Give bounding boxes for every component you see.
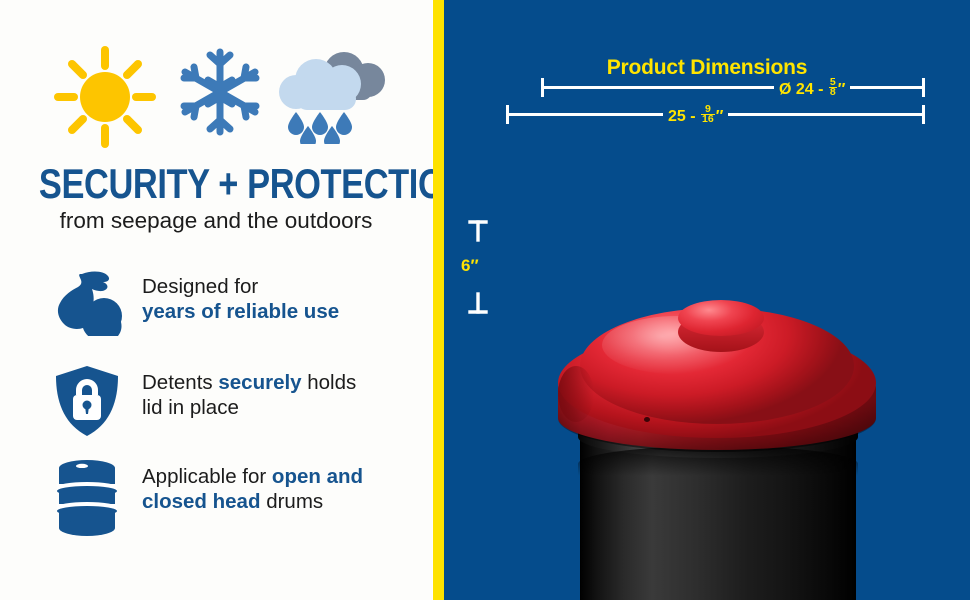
diameter-label-suffix: ″: [838, 81, 846, 98]
page-subtitle: from seepage and the outdoors: [0, 208, 432, 234]
feature-bold: securely: [218, 371, 301, 394]
yellow-divider: [433, 0, 444, 600]
snowflake-icon: [172, 42, 268, 147]
left-panel: SECURITY + PROTECTION from seepage and t…: [0, 0, 432, 600]
list-item: Applicable for open and closed head drum…: [52, 456, 422, 530]
diameter-fraction: 58: [829, 78, 837, 97]
feature-line-2-tail: drums: [261, 490, 324, 513]
weather-icon-row: [44, 42, 404, 162]
feature-line-2-bold: closed head: [142, 490, 261, 513]
sun-icon: [50, 42, 160, 157]
list-item: Detents securely holds lid in place: [52, 362, 422, 436]
diameter-label-prefix: Ø 24 -: [779, 81, 828, 98]
feature-list: Designed for years of reliable use: [52, 268, 422, 550]
right-panel: Product Dimensions Ø 24 - 58″: [444, 0, 970, 600]
diameter-cap-left: [541, 78, 544, 97]
list-item-text: Applicable for open and closed head drum…: [142, 456, 422, 514]
feature-line-2: lid in place: [142, 396, 239, 419]
rain-cloud-icon: [272, 42, 394, 149]
diameter-dimension-line: [541, 86, 925, 89]
list-item-text: Designed for years of reliable use: [142, 268, 422, 324]
width-label-suffix: ″: [716, 108, 724, 125]
width-fraction: 916: [701, 105, 715, 124]
width-label-prefix: 25 -: [668, 108, 700, 125]
lid-edge-shadow: [558, 366, 594, 422]
product-dimensions-title: Product Dimensions: [444, 56, 970, 80]
list-item-text: Detents securely holds lid in place: [142, 362, 422, 420]
diameter-cap-right: [922, 78, 925, 97]
diameter-dimension-label: Ø 24 - 58″: [774, 78, 850, 99]
feature-lead: Applicable for: [142, 465, 272, 488]
headline-block: SECURITY + PROTECTION from seepage and t…: [0, 162, 432, 234]
feature-line-2-bold: years of reliable use: [142, 300, 339, 323]
width-denominator: 16: [701, 115, 715, 124]
width-cap-right: [922, 105, 925, 124]
bicep-muscle-icon: [52, 270, 128, 342]
width-cap-left: [506, 105, 509, 124]
width-dimension-label: 25 - 916″: [663, 105, 728, 126]
feature-tail: holds: [302, 371, 357, 394]
list-item: Designed for years of reliable use: [52, 268, 422, 342]
diameter-denominator: 8: [829, 88, 837, 97]
page-title: SECURITY + PROTECTION: [39, 162, 393, 206]
feature-bold: open and: [272, 465, 363, 488]
feature-lead: Detents: [142, 371, 218, 394]
drum-barrel-icon: [52, 458, 128, 530]
infographic-page: SECURITY + PROTECTION from seepage and t…: [0, 0, 970, 600]
lid-knob: [678, 300, 764, 336]
height-dimension-label: 6″: [461, 256, 479, 276]
shield-lock-icon: [52, 364, 128, 436]
drum-with-red-lid-photo: [484, 160, 944, 600]
lid-vent-hole: [644, 417, 650, 422]
feature-line-1: Designed for: [142, 275, 258, 298]
